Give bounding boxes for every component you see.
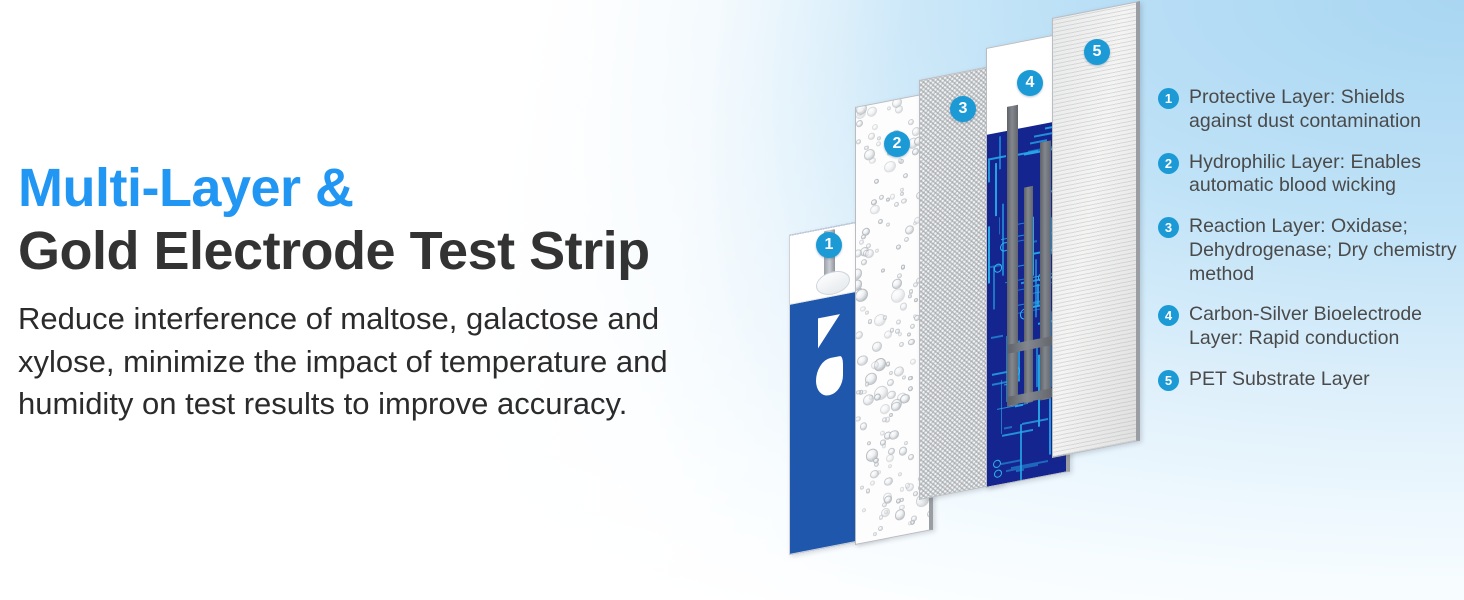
legend-item-4: 4 Carbon-Silver Bioelectrode Layer: Rapi… bbox=[1158, 303, 1458, 351]
electrode-bar-right bbox=[1040, 140, 1051, 400]
layer-5-pet-substrate bbox=[1052, 1, 1140, 458]
legend-badge-2: 2 bbox=[1158, 153, 1179, 174]
legend-badge-4: 4 bbox=[1158, 305, 1179, 326]
layer-legend-list: 1 Protective Layer: Shields against dust… bbox=[1158, 86, 1458, 409]
blood-wedge-icon bbox=[818, 312, 849, 348]
blood-drop-icon bbox=[816, 356, 843, 398]
legend-badge-5: 5 bbox=[1158, 370, 1179, 391]
copy-block: Multi-Layer & Gold Electrode Test Strip … bbox=[18, 160, 758, 425]
diagram-badge-3: 3 bbox=[950, 96, 976, 122]
legend-item-3: 3 Reaction Layer: Oxidase; Dehydrogenase… bbox=[1158, 215, 1458, 286]
description-paragraph: Reduce interference of maltose, galactos… bbox=[18, 298, 728, 424]
legend-item-2: 2 Hydrophilic Layer: Enables automatic b… bbox=[1158, 151, 1458, 199]
diagram-badge-2: 2 bbox=[884, 131, 910, 157]
legend-label-1: Protective Layer: Shields against dust c… bbox=[1189, 86, 1458, 134]
legend-label-3: Reaction Layer: Oxidase; Dehydrogenase; … bbox=[1189, 215, 1458, 286]
headline-primary: Multi-Layer & bbox=[18, 160, 758, 217]
headline-secondary: Gold Electrode Test Strip bbox=[18, 223, 758, 280]
legend-badge-3: 3 bbox=[1158, 217, 1179, 238]
legend-label-5: PET Substrate Layer bbox=[1189, 368, 1370, 392]
legend-item-5: 5 PET Substrate Layer bbox=[1158, 368, 1458, 392]
diagram-badge-4: 4 bbox=[1017, 70, 1043, 96]
electrode-bar-mid bbox=[1024, 186, 1033, 404]
diagram-badge-1: 1 bbox=[816, 232, 842, 258]
product-feature-banner: Multi-Layer & Gold Electrode Test Strip … bbox=[0, 0, 1464, 600]
legend-label-2: Hydrophilic Layer: Enables automatic blo… bbox=[1189, 151, 1458, 199]
legend-item-1: 1 Protective Layer: Shields against dust… bbox=[1158, 86, 1458, 134]
diagram-badge-5: 5 bbox=[1084, 39, 1110, 65]
legend-badge-1: 1 bbox=[1158, 88, 1179, 109]
legend-label-4: Carbon-Silver Bioelectrode Layer: Rapid … bbox=[1189, 303, 1458, 351]
electrode-bar-left bbox=[1007, 105, 1018, 407]
